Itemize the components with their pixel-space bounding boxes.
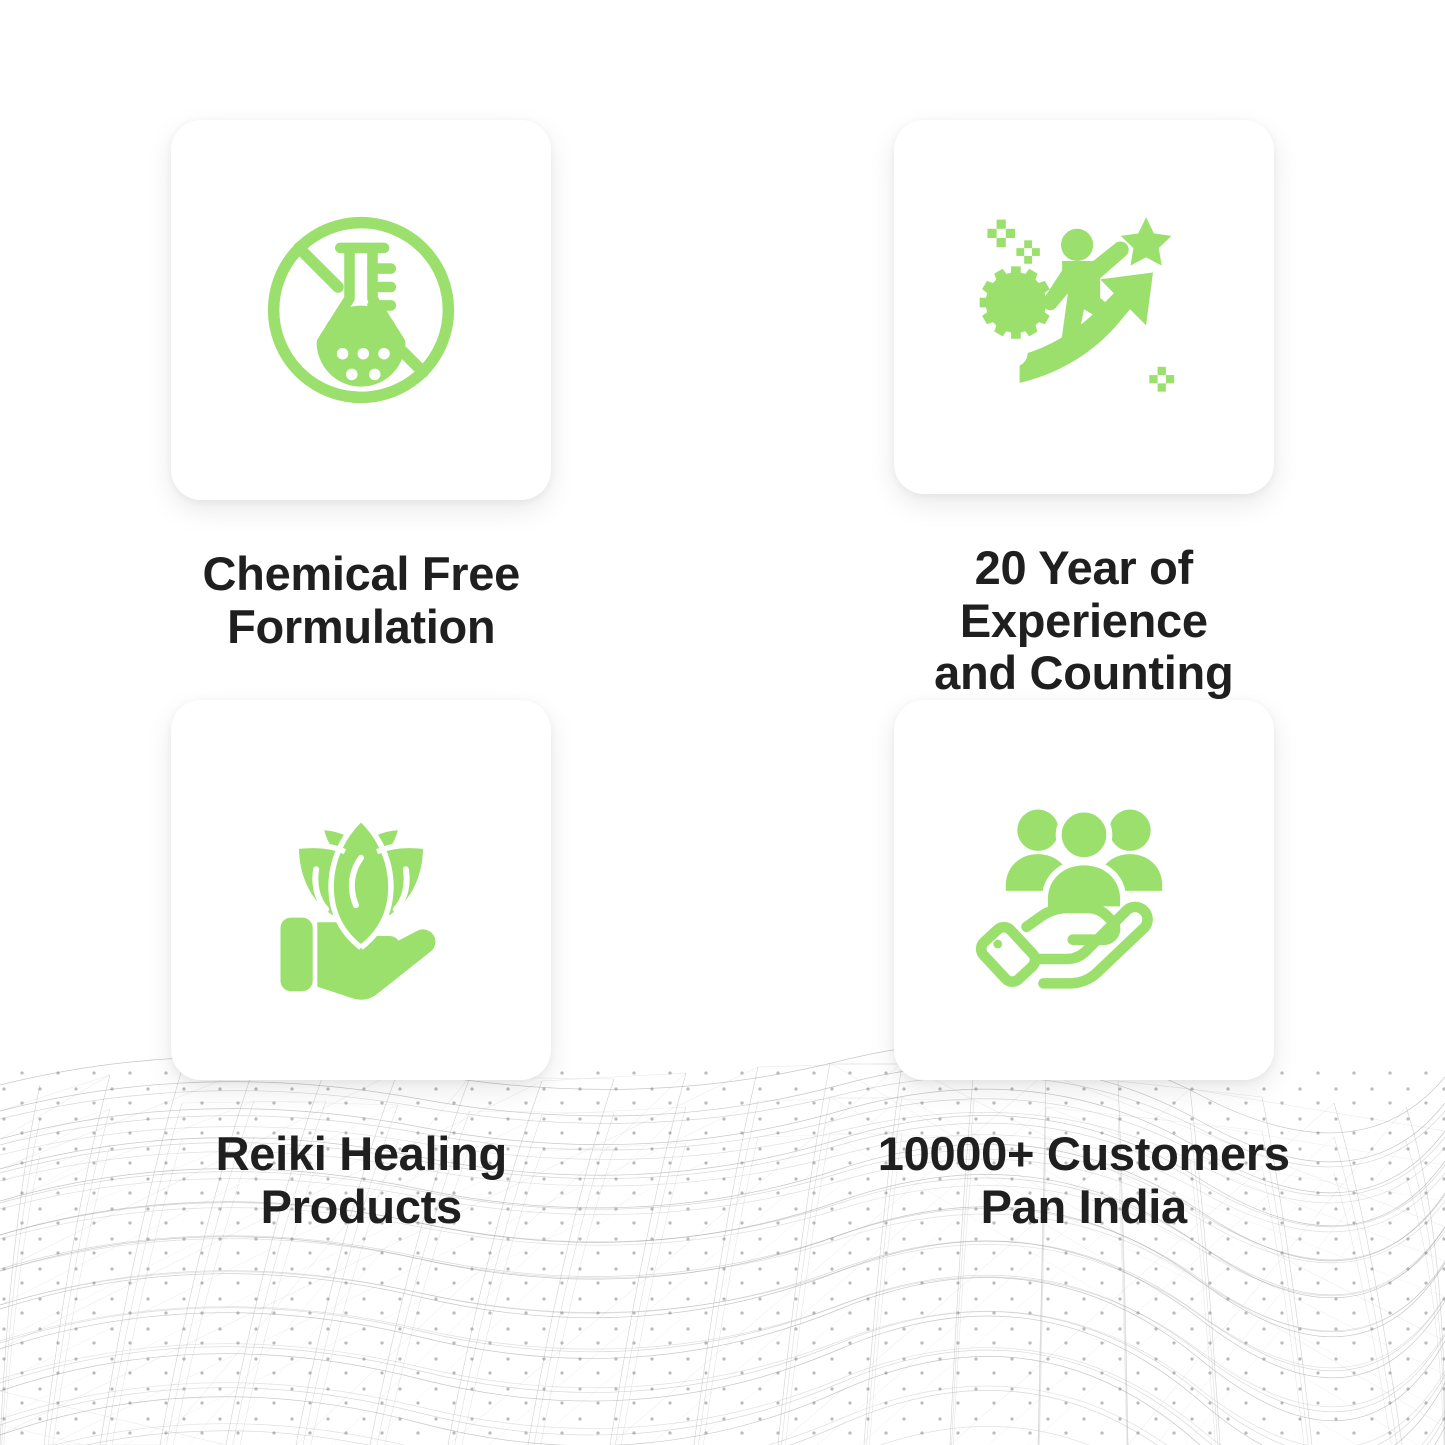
feature-label-customers: 10000+ Customers Pan India <box>878 1128 1290 1233</box>
no-chemicals-flask-icon <box>246 195 476 425</box>
icon-card-reiki-healing[interactable] <box>171 700 551 1080</box>
icon-card-experience[interactable] <box>894 120 1274 494</box>
feature-cell-experience: 20 Year of Experience and Counting <box>723 120 1445 700</box>
feature-label-experience: 20 Year of Experience and Counting <box>864 542 1304 700</box>
feature-cell-customers: 10000+ Customers Pan India <box>723 700 1445 1280</box>
icon-card-chemical-free[interactable] <box>171 120 551 500</box>
feature-cell-chemical-free: Chemical Free Formulation <box>0 120 723 700</box>
feature-cell-reiki-healing: Reiki Healing Products <box>0 700 723 1280</box>
people-in-hand-icon <box>969 775 1199 1005</box>
feature-grid: Chemical Free Formulation <box>0 0 1445 1445</box>
feature-label-chemical-free: Chemical Free Formulation <box>203 548 520 653</box>
growth-person-arrow-icon <box>969 192 1199 422</box>
icon-card-customers[interactable] <box>894 700 1274 1080</box>
feature-label-reiki-healing: Reiki Healing Products <box>216 1128 507 1233</box>
feature-highlights-page: Chemical Free Formulation <box>0 0 1445 1445</box>
leaf-in-hand-icon <box>246 775 476 1005</box>
